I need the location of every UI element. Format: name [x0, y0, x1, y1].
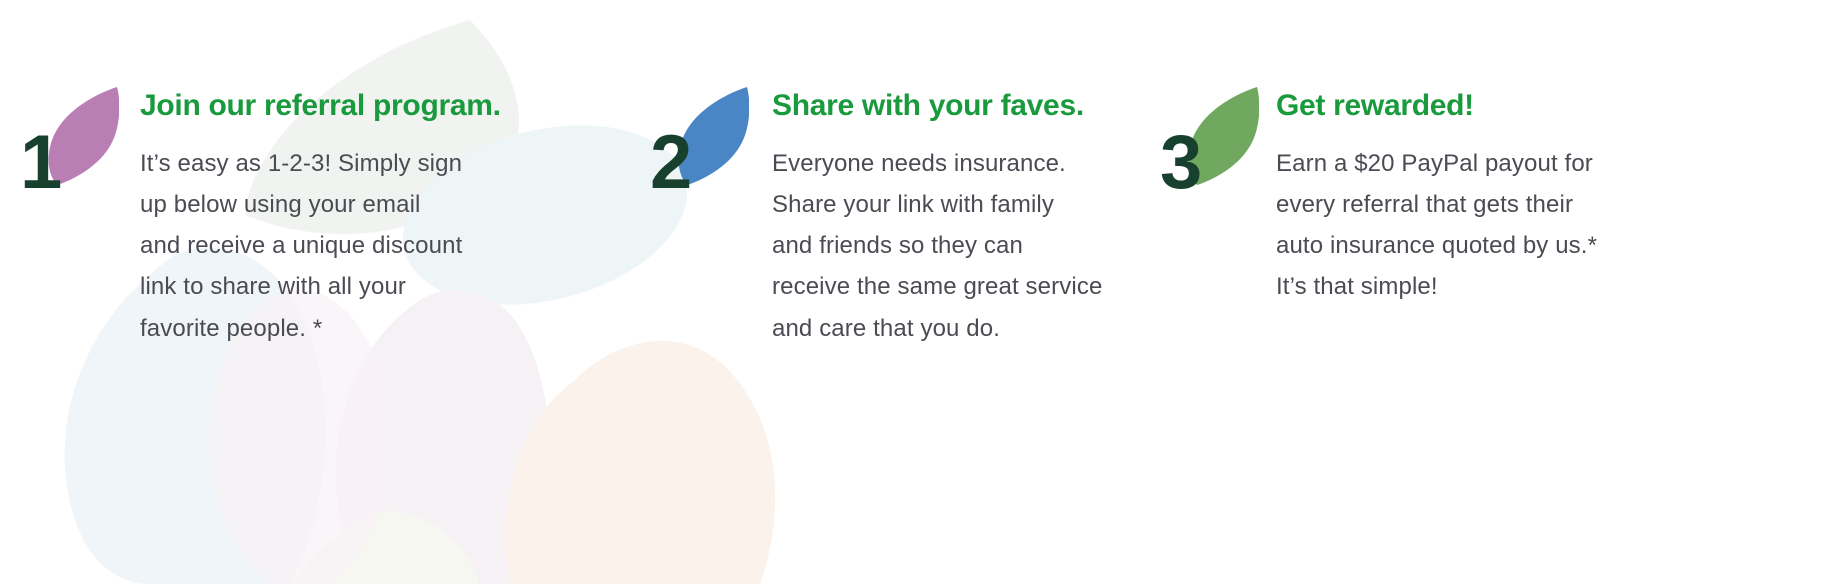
heading-line: program. [373, 89, 501, 122]
step-body-1: It’s easy as 1-2-3! Simply sign up below… [140, 143, 540, 349]
body-line: Share your link with family [772, 184, 1162, 225]
body-line: It’s that simple! [1276, 266, 1676, 307]
step-card-2: 2 Share with your faves. Everyone needs … [630, 0, 1140, 584]
step-number-2: 2 [650, 125, 691, 201]
step-text-3: Get rewarded! Earn a $20 PayPal payout f… [1276, 88, 1676, 308]
heading-line: Share with your [772, 89, 993, 122]
referral-steps-section: 1 Join our referral program. It’s easy a… [0, 0, 1833, 584]
body-line: and receive a unique discount [140, 225, 540, 266]
heading-line: Get rewarded! [1276, 89, 1474, 122]
steps-columns: 1 Join our referral program. It’s easy a… [0, 0, 1833, 584]
step-heading-1: Join our referral program. [140, 88, 540, 125]
step-number-1: 1 [20, 125, 61, 201]
body-line: and care that you do. [772, 308, 1162, 349]
step-text-1: Join our referral program. It’s easy as … [140, 88, 540, 349]
step-heading-3: Get rewarded! [1276, 88, 1676, 125]
body-line: link to share with all your [140, 266, 540, 307]
step-marker-3: 3 [1152, 85, 1272, 195]
body-line: Earn a $20 PayPal payout for [1276, 143, 1676, 184]
body-line: favorite people. * [140, 308, 540, 349]
body-line: auto insurance quoted by us.* [1276, 225, 1676, 266]
step-body-2: Everyone needs insurance. Share your lin… [772, 143, 1162, 349]
step-body-3: Earn a $20 PayPal payout for every refer… [1276, 143, 1676, 308]
body-line: every referral that gets their [1276, 184, 1676, 225]
body-line: and friends so they can [772, 225, 1162, 266]
step-heading-2: Share with your faves. [772, 88, 1162, 125]
step-marker-2: 2 [642, 85, 762, 195]
step-text-2: Share with your faves. Everyone needs in… [772, 88, 1162, 349]
heading-line: faves. [1001, 89, 1084, 122]
body-line: Everyone needs insurance. [772, 143, 1162, 184]
body-line: receive the same great service [772, 266, 1162, 307]
step-card-3: 3 Get rewarded! Earn a $20 PayPal payout… [1140, 0, 1833, 584]
step-card-1: 1 Join our referral program. It’s easy a… [0, 0, 630, 584]
step-marker-1: 1 [12, 85, 132, 195]
body-line: It’s easy as 1-2-3! Simply sign [140, 143, 540, 184]
body-line: up below using your email [140, 184, 540, 225]
step-number-3: 3 [1160, 125, 1201, 201]
heading-line: Join our referral [140, 89, 365, 122]
